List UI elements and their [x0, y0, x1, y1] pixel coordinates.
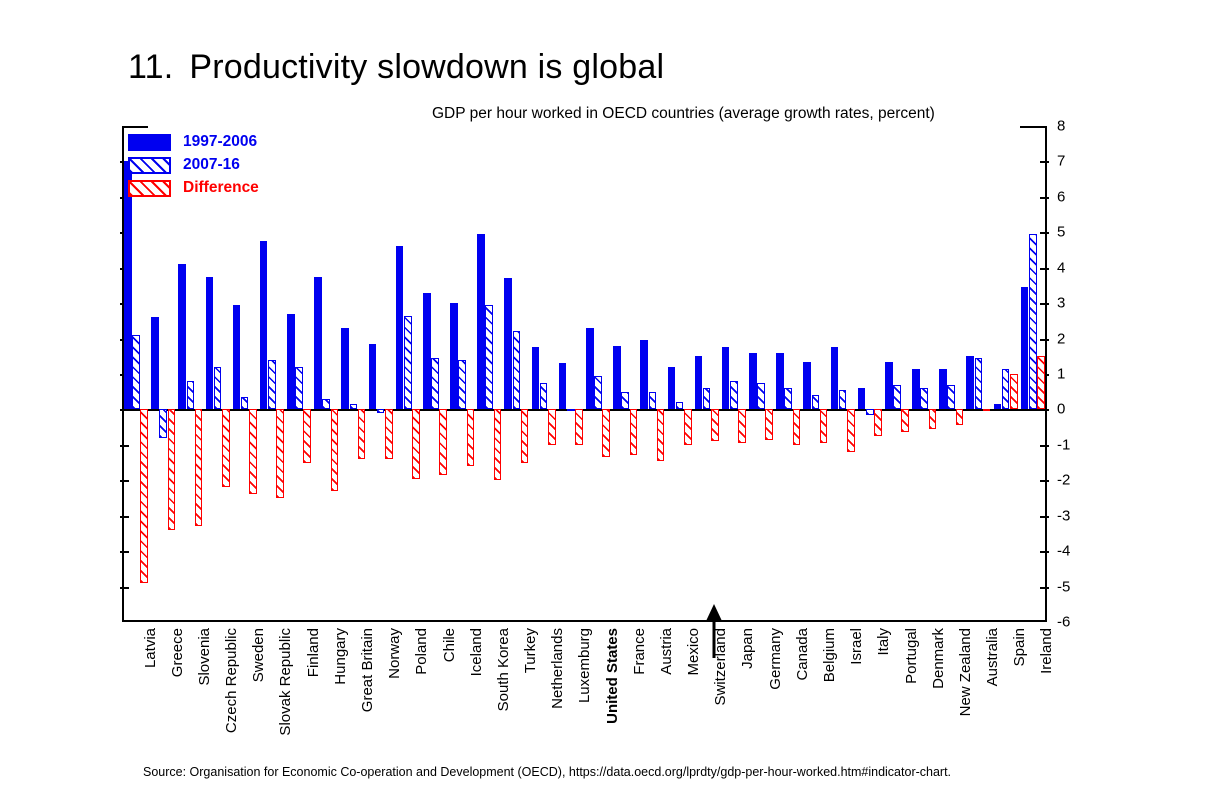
bar-difference: [847, 409, 855, 452]
legend-swatch-solid-blue-icon: [128, 134, 171, 151]
bar-2007-16: [431, 358, 439, 409]
bar-difference: [1037, 356, 1045, 409]
legend-item-1997-2006: 1997-2006: [128, 131, 259, 153]
y-axis-tick: [120, 445, 129, 447]
x-axis-label-hungary: Hungary: [332, 628, 349, 685]
y-axis-tick-label: 5: [1057, 224, 1065, 241]
bar-2007-16: [241, 397, 249, 409]
bar-1997-2006: [776, 353, 784, 410]
bar-2007-16: [594, 376, 602, 410]
x-axis-label-united-states: United States: [604, 628, 621, 724]
y-axis-tick: [1040, 516, 1049, 518]
bar-difference: [956, 409, 964, 425]
x-axis-label-chile: Chile: [441, 628, 458, 662]
y-axis-tick: [120, 516, 129, 518]
bar-difference: [874, 409, 882, 436]
bar-difference: [358, 409, 366, 459]
legend-swatch-hatched-blue-icon: [128, 157, 171, 174]
x-axis-label-slovenia: Slovenia: [196, 628, 213, 686]
bar-2007-16: [866, 409, 874, 414]
bar-2007-16: [839, 390, 847, 409]
bar-difference: [439, 409, 447, 475]
x-axis-label-austria: Austria: [658, 628, 675, 675]
y-axis-tick-label: 3: [1057, 295, 1065, 312]
bar-2007-16: [703, 388, 711, 409]
y-axis-tick: [120, 409, 129, 411]
bar-difference: [765, 409, 773, 439]
y-axis-tick-label: -6: [1057, 614, 1070, 631]
x-axis-label-south-korea: South Korea: [495, 628, 512, 711]
y-axis-tick: [120, 587, 129, 589]
x-axis-label-france: France: [631, 628, 648, 675]
bar-2007-16: [295, 367, 303, 410]
frame-top-right-segment: [1020, 126, 1046, 128]
bar-difference: [168, 409, 176, 529]
bar-2007-16: [1002, 369, 1010, 410]
slide-canvas: 11.Productivity slowdown is global GDP p…: [0, 0, 1231, 807]
x-axis-label-greece: Greece: [169, 628, 186, 677]
x-axis-label-ireland: Ireland: [1038, 628, 1055, 674]
x-axis-label-germany: Germany: [767, 628, 784, 690]
bar-2007-16: [350, 404, 358, 409]
bar-2007-16: [812, 395, 820, 409]
bar-2007-16: [920, 388, 928, 409]
bar-1997-2006: [803, 362, 811, 410]
bar-2007-16: [784, 388, 792, 409]
y-axis-tick: [1040, 303, 1049, 305]
y-axis-tick: [1040, 587, 1049, 589]
bar-2007-16: [159, 409, 167, 437]
bar-2007-16: [485, 305, 493, 410]
y-axis-tick: [1040, 551, 1049, 553]
bar-2007-16: [730, 381, 738, 409]
bar-difference: [385, 409, 393, 459]
bar-difference: [1010, 374, 1018, 409]
bar-1997-2006: [668, 367, 676, 410]
bar-difference: [548, 409, 556, 444]
bar-1997-2006: [966, 356, 974, 409]
bar-1997-2006: [912, 369, 920, 410]
legend-swatch-hatched-red-icon: [128, 180, 171, 197]
bar-1997-2006: [722, 347, 730, 409]
y-axis-tick: [1040, 161, 1049, 163]
x-axis-label-luxemburg: Luxemburg: [576, 628, 593, 703]
bar-difference: [602, 409, 610, 457]
bar-difference: [901, 409, 909, 432]
bar-1997-2006: [341, 328, 349, 409]
frame-top-left-segment: [122, 126, 148, 128]
bar-2007-16: [676, 402, 684, 409]
bar-difference: [630, 409, 638, 455]
bar-1997-2006: [559, 363, 567, 409]
bar-1997-2006: [939, 369, 947, 410]
chart-subtitle: GDP per hour worked in OECD countries (a…: [432, 105, 935, 123]
bar-2007-16: [540, 383, 548, 410]
bar-2007-16: [1029, 234, 1037, 409]
y-axis-tick-label: -5: [1057, 578, 1070, 595]
bar-difference: [929, 409, 937, 428]
x-axis-label-spain: Spain: [1011, 628, 1028, 666]
bar-difference: [412, 409, 420, 478]
bar-1997-2006: [423, 293, 431, 410]
legend-label-1997-2006: 1997-2006: [183, 133, 257, 151]
x-axis-label-israel: Israel: [848, 628, 865, 665]
bar-1997-2006: [504, 278, 512, 409]
source-note: Source: Organisation for Economic Co-ope…: [143, 765, 951, 779]
y-axis-tick: [1040, 197, 1049, 199]
bar-2007-16: [322, 399, 330, 410]
y-axis-tick-label: 7: [1057, 153, 1065, 170]
y-axis-tick: [1040, 480, 1049, 482]
bar-2007-16: [404, 316, 412, 410]
page-title: 11.Productivity slowdown is global: [128, 48, 1028, 87]
bar-difference: [711, 409, 719, 441]
y-axis-tick-label: -1: [1057, 436, 1070, 453]
x-axis-label-denmark: Denmark: [930, 628, 947, 689]
bar-1997-2006: [749, 353, 757, 410]
x-axis-label-latvia: Latvia: [142, 628, 159, 668]
y-axis-tick-label: 6: [1057, 188, 1065, 205]
y-axis-tick-label: -2: [1057, 472, 1070, 489]
bar-1997-2006: [640, 340, 648, 409]
bar-2007-16: [214, 367, 222, 410]
bar-1997-2006: [994, 404, 1002, 409]
y-axis-tick: [1040, 232, 1049, 234]
bar-1997-2006: [532, 347, 540, 409]
x-axis-label-italy: Italy: [875, 628, 892, 656]
bar-1997-2006: [396, 246, 404, 409]
y-axis-tick-label: 8: [1057, 118, 1065, 135]
bar-difference: [249, 409, 257, 494]
bar-1997-2006: [831, 347, 839, 409]
y-axis-tick-label: -3: [1057, 507, 1070, 524]
bar-1997-2006: [613, 346, 621, 410]
bar-2007-16: [132, 335, 140, 409]
bar-1997-2006: [233, 305, 241, 410]
bar-1997-2006: [260, 241, 268, 409]
x-axis-label-sweden: Sweden: [250, 628, 267, 682]
bar-difference: [331, 409, 339, 490]
legend-item-difference: Difference: [128, 177, 259, 199]
x-axis-label-switzerland: Switzerland: [712, 628, 729, 706]
slide-number: 11.: [128, 48, 173, 86]
bar-difference: [276, 409, 284, 498]
bar-difference: [303, 409, 311, 462]
x-axis-label-australia: Australia: [984, 628, 1001, 686]
bar-1997-2006: [314, 277, 322, 410]
x-axis-label-portugal: Portugal: [903, 628, 920, 684]
x-axis-label-mexico: Mexico: [685, 628, 702, 676]
x-axis-label-canada: Canada: [794, 628, 811, 681]
bar-difference: [521, 409, 529, 462]
bar-2007-16: [893, 385, 901, 410]
bar-difference: [195, 409, 203, 526]
bar-2007-16: [268, 360, 276, 410]
y-axis-tick: [120, 480, 129, 482]
bar-1997-2006: [1021, 287, 1029, 409]
y-axis-tick-label: 4: [1057, 259, 1065, 276]
bar-difference: [983, 409, 991, 411]
x-axis-label-slovak-republic: Slovak Republic: [277, 628, 294, 736]
bar-1997-2006: [858, 388, 866, 409]
legend-label-difference: Difference: [183, 179, 259, 197]
x-axis-label-belgium: Belgium: [821, 628, 838, 682]
bar-difference: [575, 409, 583, 444]
x-axis-label-czech-republic: Czech Republic: [223, 628, 240, 733]
y-axis-tick-label: 2: [1057, 330, 1065, 347]
x-axis-line: [122, 620, 1046, 622]
bar-difference: [494, 409, 502, 480]
y-axis-tick-label: -4: [1057, 543, 1070, 560]
bar-1997-2006: [885, 362, 893, 410]
bar-1997-2006: [586, 328, 594, 409]
bar-1997-2006: [206, 277, 214, 410]
bar-1997-2006: [287, 314, 295, 410]
y-axis-tick: [1040, 339, 1049, 341]
bar-difference: [820, 409, 828, 443]
bar-2007-16: [377, 409, 385, 413]
x-axis-label-great-britain: Great Britain: [359, 628, 376, 712]
bar-2007-16: [567, 409, 575, 411]
chart-legend: 1997-2006 2007-16 Difference: [128, 131, 259, 200]
bar-1997-2006: [369, 344, 377, 410]
x-axis-label-iceland: Iceland: [468, 628, 485, 676]
bar-difference: [684, 409, 692, 444]
bar-2007-16: [621, 392, 629, 410]
bar-2007-16: [975, 358, 983, 409]
bar-difference: [793, 409, 801, 444]
bar-1997-2006: [450, 303, 458, 409]
bar-1997-2006: [151, 317, 159, 409]
y-axis-tick-label: 1: [1057, 366, 1065, 383]
bar-1997-2006: [477, 234, 485, 409]
y-axis-tick-label: 0: [1057, 401, 1065, 418]
y-axis-tick: [1040, 445, 1049, 447]
x-axis-label-finland: Finland: [305, 628, 322, 677]
bar-2007-16: [649, 392, 657, 410]
x-axis-label-norway: Norway: [386, 628, 403, 679]
bar-difference: [738, 409, 746, 443]
bar-1997-2006: [695, 356, 703, 409]
y-axis-tick: [120, 551, 129, 553]
bar-2007-16: [513, 331, 521, 409]
bar-difference: [222, 409, 230, 487]
x-axis-label-new-zealand: New Zealand: [957, 628, 974, 716]
y-axis-tick: [1040, 409, 1049, 411]
bar-difference: [467, 409, 475, 466]
y-axis-tick: [1040, 268, 1049, 270]
bar-2007-16: [458, 360, 466, 410]
legend-label-2007-16: 2007-16: [183, 156, 240, 174]
bar-2007-16: [187, 381, 195, 409]
legend-item-2007-16: 2007-16: [128, 154, 259, 176]
x-axis-label-japan: Japan: [739, 628, 756, 669]
slide-title-text: Productivity slowdown is global: [189, 48, 664, 86]
bar-1997-2006: [178, 264, 186, 409]
chart-plot-area: [122, 126, 1046, 622]
bar-difference: [140, 409, 148, 583]
x-axis-label-turkey: Turkey: [522, 628, 539, 673]
bar-2007-16: [947, 385, 955, 410]
bar-difference: [657, 409, 665, 460]
x-axis-label-netherlands: Netherlands: [549, 628, 566, 709]
x-axis-label-poland: Poland: [413, 628, 430, 675]
bar-2007-16: [757, 383, 765, 410]
